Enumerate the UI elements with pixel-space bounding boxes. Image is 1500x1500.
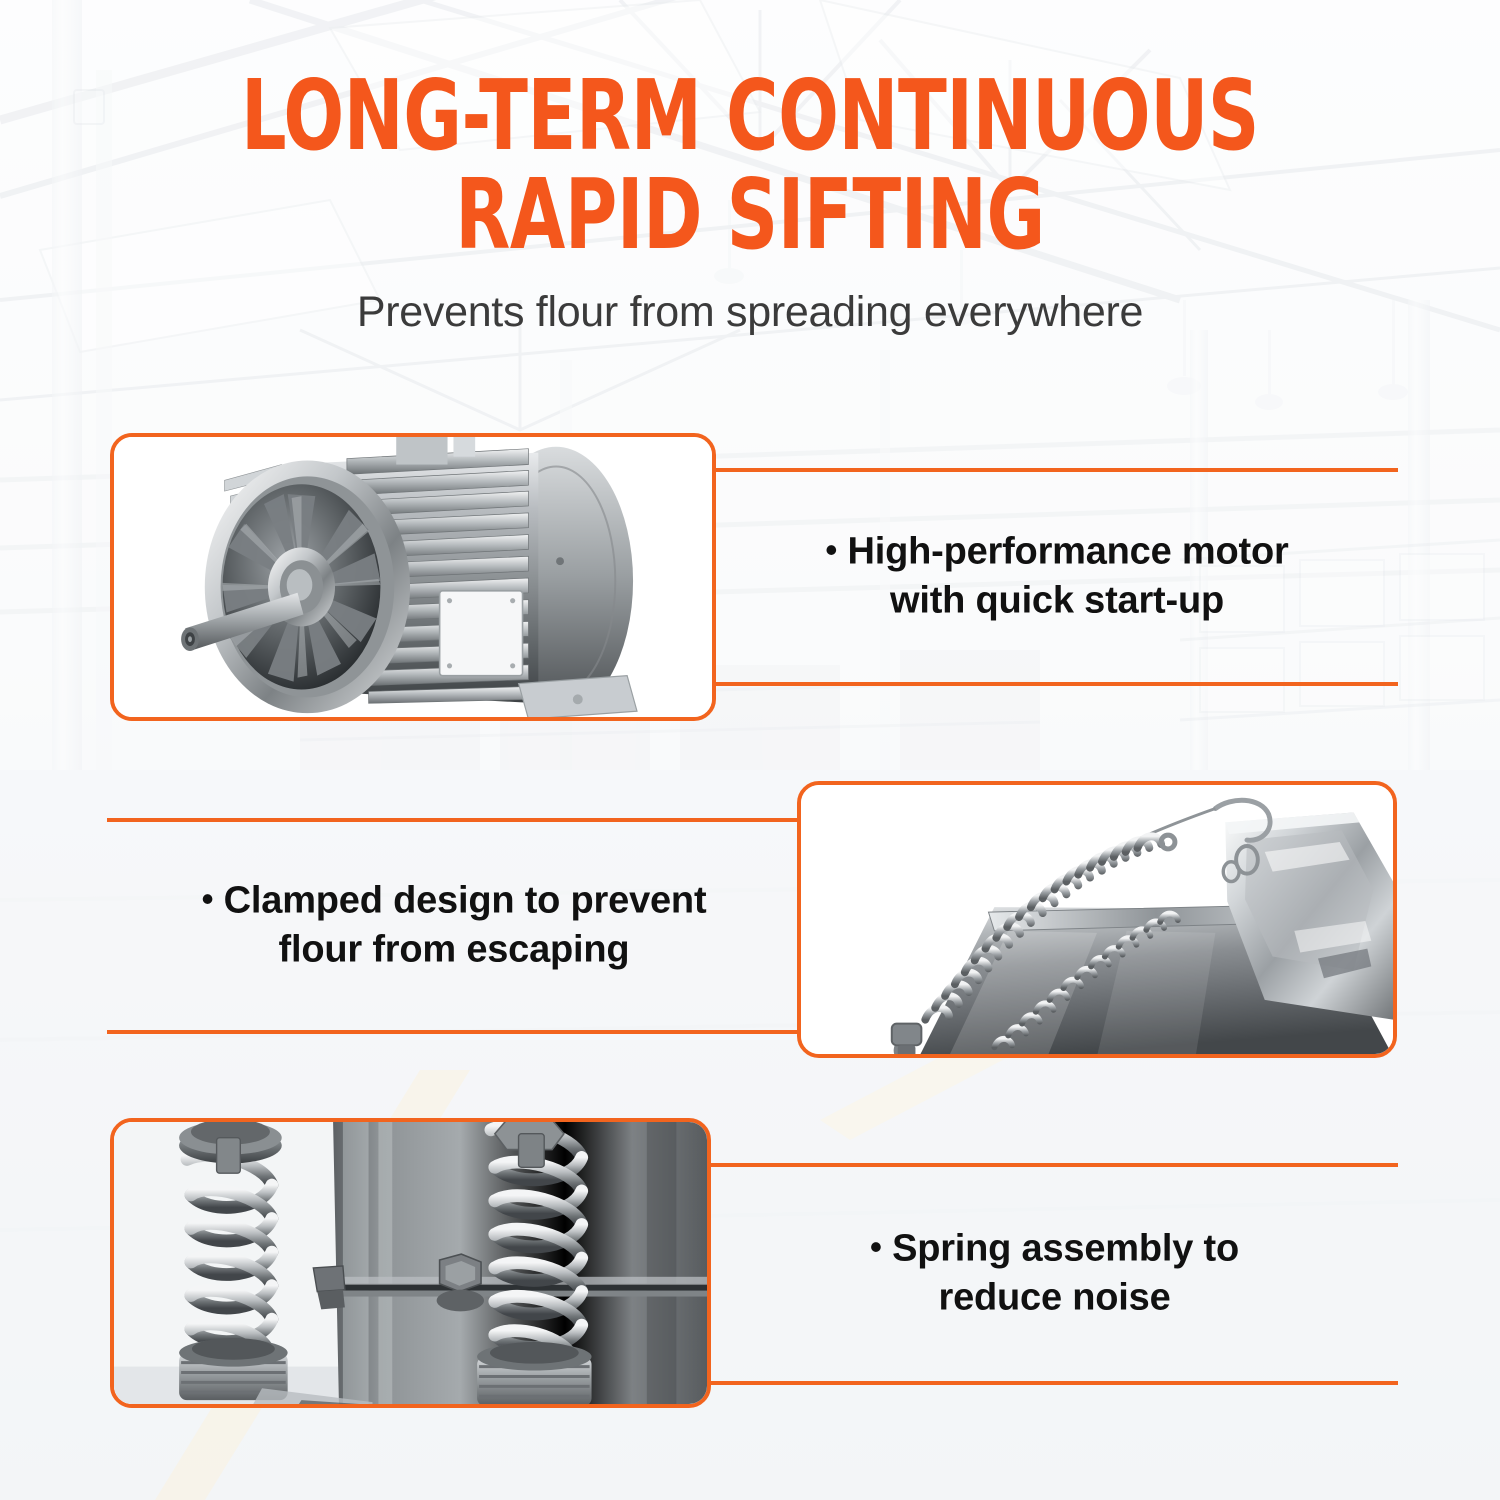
feature-line-2-clamp: flour from escaping bbox=[107, 926, 801, 975]
feature-line-1-clamp: • Clamped design to prevent bbox=[107, 877, 801, 926]
connector-rule-bottom bbox=[107, 1030, 801, 1034]
feature-text-panel-motor: • High-performance motor with quick star… bbox=[716, 468, 1398, 686]
feature-text-clamp: • Clamped design to prevent flour from e… bbox=[107, 877, 801, 976]
feature-image-spring bbox=[110, 1118, 711, 1408]
page-title-line-2: RAPID SIFTING bbox=[135, 167, 1365, 262]
feature-text-spring: • Spring assembly to reduce noise bbox=[711, 1225, 1398, 1324]
header-block: LONG-TERM CONTINUOUS RAPID SIFTING Preve… bbox=[0, 68, 1500, 337]
feature-line-1-spring: • Spring assembly to bbox=[711, 1225, 1398, 1274]
bullet-icon: • bbox=[202, 881, 214, 919]
connector-rule-bottom bbox=[716, 682, 1398, 686]
feature-line-2-motor: with quick start-up bbox=[716, 577, 1398, 626]
feature-image-motor bbox=[110, 433, 716, 721]
connector-rule-bottom bbox=[711, 1381, 1398, 1385]
connector-rule-top bbox=[716, 468, 1398, 472]
feature-text-motor: • High-performance motor with quick star… bbox=[716, 528, 1398, 627]
feature-line-1-motor: • High-performance motor bbox=[716, 528, 1398, 577]
page-title-line-1: LONG-TERM CONTINUOUS bbox=[135, 68, 1365, 163]
infographic-page: LONG-TERM CONTINUOUS RAPID SIFTING Preve… bbox=[0, 0, 1500, 1500]
feature-text-panel-spring: • Spring assembly to reduce noise bbox=[711, 1163, 1398, 1385]
connector-rule-top bbox=[107, 818, 801, 822]
page-subtitle: Prevents flour from spreading everywhere bbox=[0, 288, 1500, 337]
feature-line-2-spring: reduce noise bbox=[711, 1274, 1398, 1323]
bullet-icon: • bbox=[870, 1229, 882, 1267]
connector-rule-top bbox=[711, 1163, 1398, 1167]
bullet-icon: • bbox=[825, 532, 837, 570]
feature-text-panel-clamp: • Clamped design to prevent flour from e… bbox=[107, 818, 801, 1034]
feature-image-clamp bbox=[797, 781, 1397, 1058]
